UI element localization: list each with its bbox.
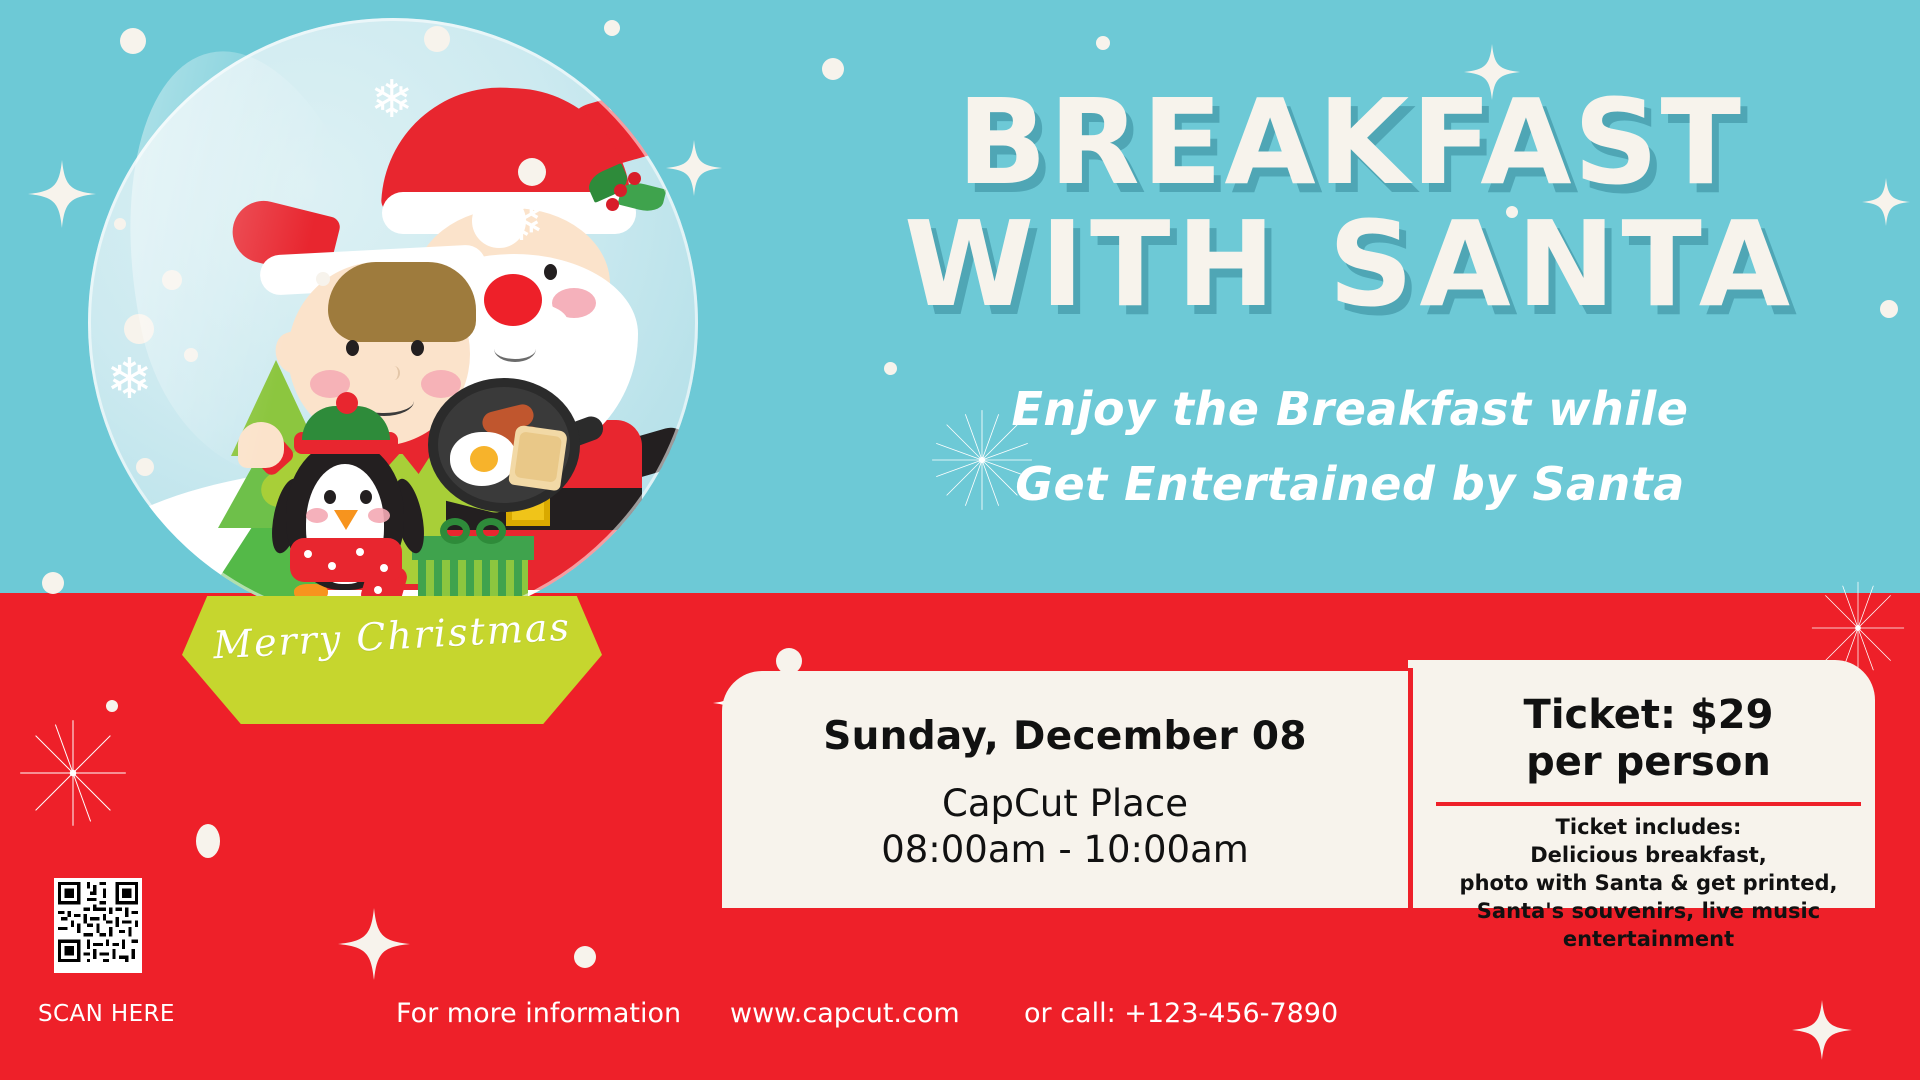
ticket-price-line-2: per person [1422, 739, 1875, 786]
globe-glass-rim [88, 18, 698, 628]
panel-divider [1408, 668, 1413, 908]
ticket-includes: Ticket includes: Delicious breakfast, ph… [1428, 814, 1869, 954]
sparkle-icon [338, 908, 410, 980]
website-link[interactable]: www.capcut.com [730, 998, 960, 1029]
ticket-price-line-1: Ticket: $29 [1422, 692, 1875, 739]
event-date: Sunday, December 08 [722, 714, 1408, 759]
title-line-2: WITH SANTA [820, 204, 1880, 326]
title-line-1: BREAKFAST [820, 82, 1880, 204]
decor-dot [1096, 36, 1110, 50]
flyer-canvas: ❄ ❄ ❄ Merry Christmas BREAKFAST WITH SAN… [0, 0, 1920, 1080]
ticket-rule [1436, 802, 1861, 806]
decor-dot [1880, 300, 1898, 318]
ticket-includes-line: Delicious breakfast, [1428, 842, 1869, 870]
decor-dot [574, 946, 596, 968]
ticket-includes-heading: Ticket includes: [1428, 814, 1869, 842]
phone-number[interactable]: or call: +123-456-7890 [1024, 998, 1338, 1029]
subtitle-line-1: Enjoy the Breakfast while [820, 372, 1880, 447]
qr-code[interactable] [54, 878, 142, 973]
ticket-includes-line: photo with Santa & get printed, [1428, 870, 1869, 898]
ticket-includes-line: entertainment [1428, 926, 1869, 954]
footer: SCAN HERE For more information www.capcu… [0, 995, 1920, 1055]
more-information-label: For more information [396, 998, 681, 1029]
subtitle-line-2: Get Entertained by Santa [820, 447, 1880, 522]
decor-dot [822, 58, 844, 80]
event-venue: CapCut Place [722, 782, 1408, 825]
starburst-icon [18, 718, 128, 828]
ticket-includes-line: Santa's souvenirs, live music [1428, 898, 1869, 926]
scan-here-label: SCAN HERE [38, 1001, 175, 1027]
page-title: BREAKFAST WITH SANTA [820, 82, 1880, 325]
subtitle: Enjoy the Breakfast while Get Entertaine… [820, 372, 1880, 521]
snow-globe-illustration: ❄ ❄ ❄ Merry Christmas [60, 8, 720, 708]
info-panel: Sunday, December 08 CapCut Place 08:00am… [722, 660, 1875, 908]
event-time: 08:00am - 10:00am [722, 828, 1408, 871]
decor-dot [196, 824, 220, 858]
ticket-price: Ticket: $29 per person [1422, 692, 1875, 786]
